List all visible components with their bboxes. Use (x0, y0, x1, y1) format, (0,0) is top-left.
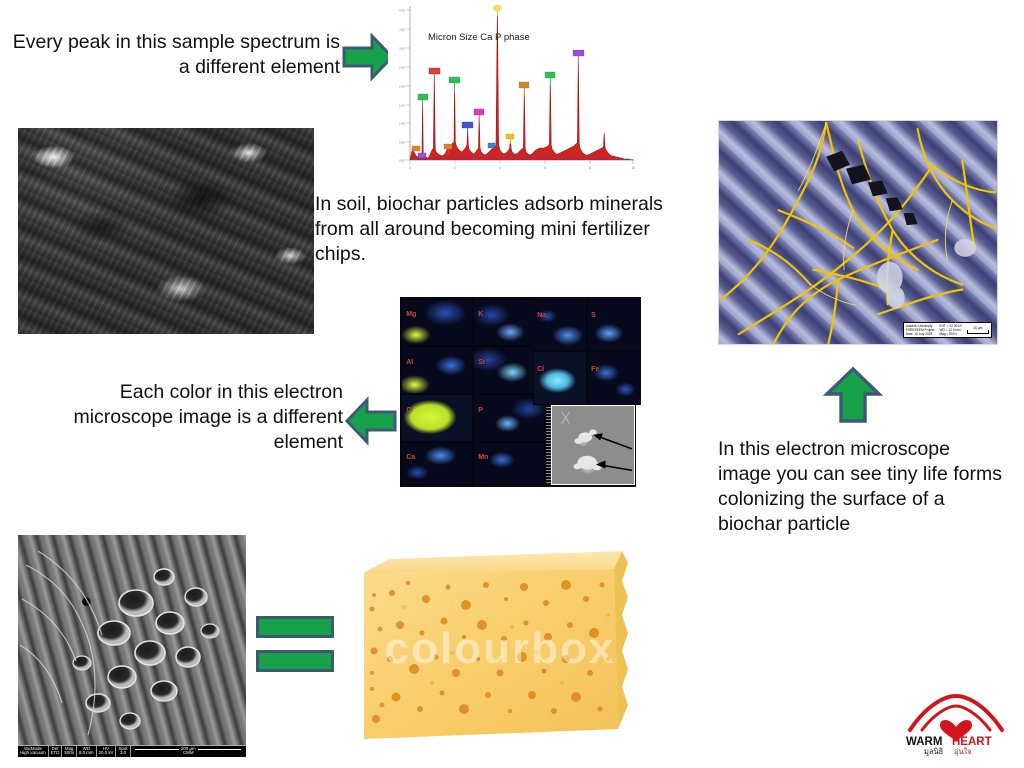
callout-soil: In soil, biochar particles adsorb minera… (315, 192, 687, 267)
emcell-mg: Mg (402, 299, 472, 345)
info-col-mag: Mag 500x (62, 746, 77, 757)
emlabel-o: O (406, 407, 411, 414)
emcell-ca: Ca (402, 443, 472, 485)
callout-lifeforms: In this electron microscope image you ca… (718, 437, 1008, 537)
equals-bar-bottom (256, 650, 334, 672)
svg-text:6: 6 (544, 166, 546, 170)
eds-element-map-right: Na S Cl Fe (533, 297, 641, 405)
svg-text:3.50: 3.50 (399, 27, 405, 31)
emlabel-na: Na (537, 312, 546, 319)
sem-right-info-mid: EHT = 12.00 kV WD = 12.5 mm Mag = 800 x (939, 324, 962, 336)
callout-spectrum: Every peak in this sample spectrum is a … (8, 30, 340, 80)
callout-elementmap: Each color in this electron microscope i… (25, 380, 343, 455)
emcell-fe: Fe (588, 352, 640, 404)
sem-biochar-mineral-image (18, 128, 314, 334)
sem-right-info-panel: Anadolu University FORESEEM Project Date… (903, 322, 992, 338)
logo-thai-text-red: อุ่นใจ (954, 747, 972, 756)
svg-text:10: 10 (631, 166, 635, 170)
info-col-hv: HV 20.0 kV (97, 746, 117, 757)
info-v-wd: 8.0 mm (79, 751, 94, 756)
scalebar-left-line (135, 749, 179, 750)
info-v-spot: 3.0 (118, 751, 127, 756)
emlabel-cl: Cl (537, 366, 544, 373)
emlabel-al: Al (406, 359, 413, 366)
emcell-mn: Mn (474, 443, 544, 485)
sem-bottom-info-bar: VacMode High vacuum Det ETD Mag 500x WD … (18, 745, 246, 757)
emlabel-p: P (478, 407, 483, 414)
slide-canvas: Every peak in this sample spectrum is a … (0, 0, 1024, 768)
emcell-na: Na (534, 298, 586, 350)
emlabel-si: Si (478, 359, 485, 366)
equals-bar-top (256, 616, 334, 638)
pore-structure-overlay (18, 535, 246, 757)
svg-text:3.00: 3.00 (399, 46, 405, 50)
info-col-spot: Spot 3.0 (116, 746, 130, 757)
logo-thai-text: มูลนิธิ (924, 747, 943, 756)
info-v-vacmode: High vacuum (20, 751, 46, 756)
sem-right-scalebar: 20 µm (967, 324, 989, 336)
svg-text:0: 0 (409, 166, 411, 170)
chart-title: Micron Size Ca P phase (428, 32, 530, 43)
eds-spectrum-chart: 4.00 3.50 3.00 2.50 2.00 1.50 1.00 0.50 … (388, 2, 638, 174)
warmheart-logo: WARM HEART มูลนิธิ อุ่นใจ (900, 694, 1012, 756)
svg-text:2.50: 2.50 (399, 65, 405, 69)
sem-porous-biochar-image: VacMode High vacuum Det ETD Mag 500x WD … (18, 535, 246, 757)
svg-text:0.00: 0.00 (399, 158, 405, 162)
facility-label: CMM (183, 751, 194, 756)
scalebar-right-line (198, 749, 242, 750)
info-col-wd: WD 8.0 mm (77, 746, 97, 757)
svg-text:2.00: 2.00 (399, 84, 405, 88)
emcell-s: S (588, 298, 640, 350)
sem-right-info-left: Anadolu University FORESEEM Project Date… (906, 324, 935, 336)
emlabel-mg: Mg (406, 311, 416, 318)
svg-text:8: 8 (589, 166, 591, 170)
svg-text:2: 2 (454, 166, 456, 170)
info-col-det: Det ETD (49, 746, 63, 757)
sem-hyphae-image: Anadolu University FORESEEM Project Date… (718, 120, 998, 345)
svg-text:1.50: 1.50 (399, 103, 405, 107)
scalebar-line (967, 330, 989, 334)
sem-right-line3: Date: 13 July 2018 (906, 332, 935, 336)
emcell-al: Al (402, 347, 472, 393)
info-scalebar: 200 µm CMM (131, 746, 246, 757)
emlabel-mn: Mn (478, 454, 488, 461)
sponge-photo: colourbox (356, 533, 644, 761)
info-v-mag: 500x (64, 751, 74, 756)
info-v-det: ETD (51, 751, 60, 756)
emcell-cl: Cl (534, 352, 586, 404)
bse-inset-image (551, 405, 635, 485)
right-arrow-icon (342, 33, 394, 81)
emcell-o: O (402, 395, 472, 441)
emlabel-fe: Fe (591, 366, 599, 373)
up-arrow-icon (823, 366, 883, 424)
info-col-vacmode: VacMode High vacuum (18, 746, 49, 757)
svg-text:4.00: 4.00 (399, 8, 405, 12)
svg-text:4: 4 (499, 166, 501, 170)
emlabel-ca: Ca (406, 454, 415, 461)
info-v-hv: 20.0 kV (99, 751, 114, 756)
emlabel-s: S (591, 312, 596, 319)
svg-text:0.50: 0.50 (399, 140, 405, 144)
svg-text:1.00: 1.00 (399, 121, 405, 125)
left-arrow-icon (345, 396, 397, 446)
sem-right-line6: Mag = 800 x (939, 332, 962, 336)
hyphae-overlay (719, 121, 997, 344)
emlabel-k: K (478, 311, 483, 318)
